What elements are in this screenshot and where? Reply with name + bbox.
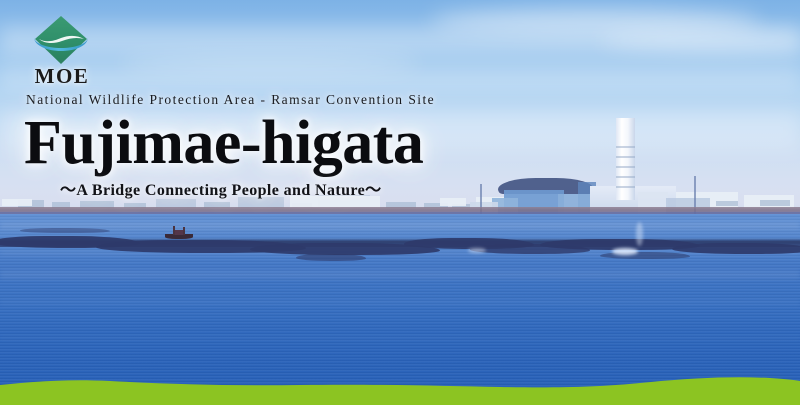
moe-logo[interactable]: MOE (16, 14, 108, 92)
page-title: Fujimae-higata (24, 112, 423, 174)
moe-diamond-swoosh-icon (30, 14, 92, 66)
moe-abbreviation: MOE (16, 64, 108, 89)
banner-tagline: ～A Bridge Connecting People and Nature～ (60, 176, 382, 200)
site-banner: MOE National Wildlife Protection Area - … (0, 0, 800, 405)
banner-text-overlay: MOE National Wildlife Protection Area - … (0, 0, 800, 405)
banner-kicker: National Wildlife Protection Area - Rams… (26, 92, 435, 108)
